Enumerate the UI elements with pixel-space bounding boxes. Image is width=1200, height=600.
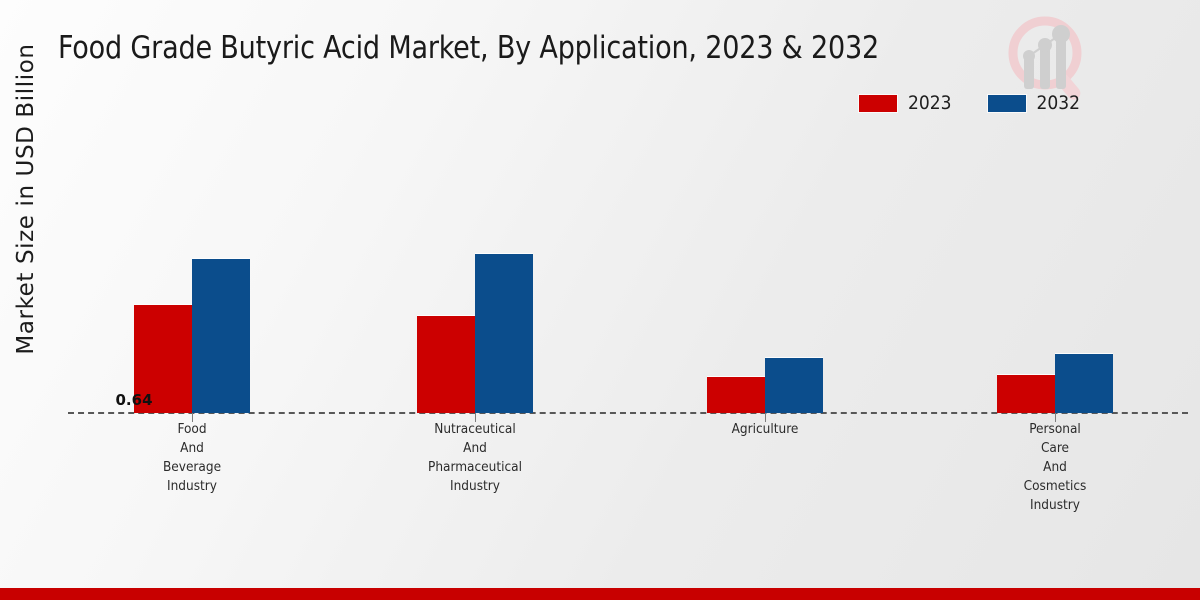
bar-2023-personal-care-and-cosmetics-industry[interactable] [997,375,1055,413]
cat-line: Personal [955,420,1155,439]
cat-line: Agriculture [665,420,865,439]
bar-value-label: 0.64 [115,391,152,409]
cat-line: Beverage [92,458,292,477]
bar-pair: 0.64 [134,259,250,413]
bar-2032-agriculture[interactable] [765,358,823,413]
bottom-accent-stripe [0,588,1200,600]
cat-line: Nutraceutical [375,420,575,439]
cat-line: And [92,439,292,458]
cat-line: Industry [375,477,575,496]
cat-line: Cosmetics [955,477,1155,496]
bar-pair [997,354,1113,413]
bar-2032-nutraceutical-and-pharmaceutical-industry[interactable] [475,254,533,413]
cat-line: Care [955,439,1155,458]
bar-pair [417,254,533,413]
cat-line: Industry [92,477,292,496]
bar-2023-nutraceutical-and-pharmaceutical-industry[interactable] [417,316,475,413]
cat-line: Food [92,420,292,439]
bar-2023-food-and-beverage-industry[interactable]: 0.64 [134,305,192,413]
x-axis-label-food-and-beverage-industry: Food And Beverage Industry [92,420,292,496]
chart-container: Food Grade Butyric Acid Market, By Appli… [0,0,1200,600]
bar-2032-personal-care-and-cosmetics-industry[interactable] [1055,354,1113,413]
cat-line: Industry [955,496,1155,515]
bar-2032-food-and-beverage-industry[interactable] [192,259,250,413]
cat-line: And [955,458,1155,477]
cat-line: And [375,439,575,458]
cat-line: Pharmaceutical [375,458,575,477]
bar-pair [707,358,823,413]
x-axis-label-agriculture: Agriculture [665,420,865,439]
plot-area: 0.64 Food And Beverage Industry Nutraceu… [0,0,1200,600]
x-axis-label-nutraceutical-and-pharmaceutical-industry: Nutraceutical And Pharmaceutical Industr… [375,420,575,496]
bar-2023-agriculture[interactable] [707,377,765,413]
x-axis-label-personal-care-and-cosmetics-industry: Personal Care And Cosmetics Industry [955,420,1155,515]
